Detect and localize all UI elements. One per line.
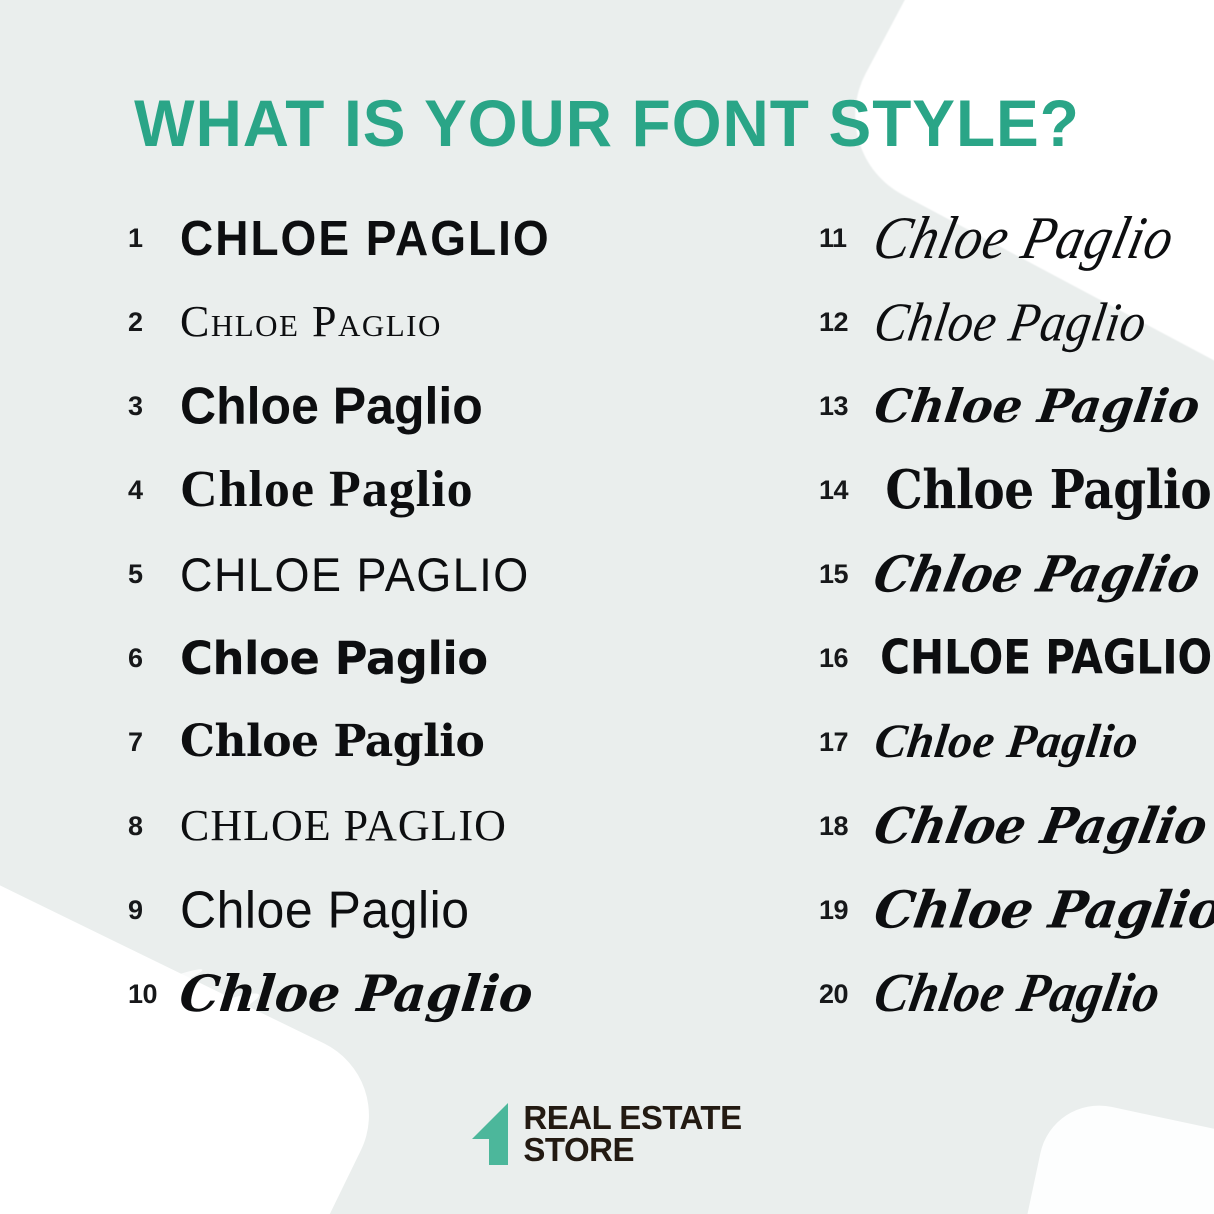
font-sample-text: CHLOE PAGLIO bbox=[180, 804, 507, 848]
font-sample-column-right: 11 Chloe Paglio 12 Chloe Paglio 13 Chloe… bbox=[735, 196, 1214, 1036]
font-sample-number: 14 bbox=[819, 475, 875, 506]
font-sample-text: Chloe Paglio bbox=[177, 969, 535, 1019]
font-sample-text: Chloe Paglio bbox=[870, 549, 1205, 599]
font-sample-text: Chloe Paglio bbox=[180, 464, 474, 516]
font-sample-row[interactable]: 17 Chloe Paglio bbox=[819, 700, 1214, 784]
font-sample-row[interactable]: 11 Chloe Paglio bbox=[819, 196, 1214, 280]
font-sample-row[interactable]: 2 Chloe Paglio bbox=[128, 280, 735, 364]
font-sample-text: CHLOE PAGLIO bbox=[180, 550, 530, 597]
font-sample-number: 12 bbox=[819, 307, 875, 338]
font-sample-row[interactable]: 18 Chloe Paglio bbox=[819, 784, 1214, 868]
font-sample-text: Chloe Paglio bbox=[871, 295, 1151, 350]
brand-logo-text: REAL ESTATE STORE bbox=[523, 1102, 741, 1166]
font-sample-number: 15 bbox=[819, 559, 875, 590]
font-sample-number: 13 bbox=[819, 391, 875, 422]
font-sample-text: Chloe Paglio bbox=[885, 464, 1211, 517]
font-sample-number: 17 bbox=[819, 727, 875, 758]
font-sample-list: 1 CHLOE PAGLIO 2 Chloe Paglio 3 Chloe Pa… bbox=[0, 196, 1214, 1036]
font-sample-number: 16 bbox=[819, 643, 875, 674]
font-sample-text: Chloe Paglio bbox=[868, 208, 1180, 268]
font-sample-row[interactable]: 6 Chloe Paglio bbox=[128, 616, 735, 700]
font-sample-text: Chloe Paglio bbox=[180, 300, 442, 344]
brand-logo-line-2: STORE bbox=[523, 1134, 741, 1166]
house-roof-icon bbox=[472, 1103, 510, 1165]
font-sample-row[interactable]: 4 Chloe Paglio bbox=[128, 448, 735, 532]
font-sample-row[interactable]: 9 Chloe Paglio bbox=[128, 868, 735, 952]
font-sample-row[interactable]: 1 CHLOE PAGLIO bbox=[128, 196, 735, 280]
font-sample-row[interactable]: 15 Chloe Paglio bbox=[819, 532, 1214, 616]
font-sample-row[interactable]: 12 Chloe Paglio bbox=[819, 280, 1214, 364]
font-sample-text: Chloe Paglio bbox=[872, 718, 1141, 766]
font-sample-text: Chloe Paglio bbox=[180, 884, 470, 936]
font-sample-row[interactable]: 5 CHLOE PAGLIO bbox=[128, 532, 735, 616]
font-sample-number: 6 bbox=[128, 643, 180, 674]
font-sample-row[interactable]: 19 Chloe Paglio bbox=[819, 868, 1214, 952]
brand-logo: REAL ESTATE STORE bbox=[0, 1102, 1214, 1166]
font-sample-number: 20 bbox=[819, 979, 875, 1010]
font-sample-text: Chloe Paglio bbox=[871, 885, 1214, 936]
font-sample-row[interactable]: 16 CHLOE PAGLIO bbox=[819, 616, 1214, 700]
font-sample-row[interactable]: 8 CHLOE PAGLIO bbox=[128, 784, 735, 868]
poster-canvas: WHAT IS YOUR FONT STYLE? 1 CHLOE PAGLIO … bbox=[0, 0, 1214, 1214]
font-sample-number: 18 bbox=[819, 811, 875, 842]
font-sample-text: Chloe Paglio bbox=[180, 380, 483, 432]
font-sample-text: Chloe Paglio bbox=[870, 966, 1165, 1021]
font-sample-number: 9 bbox=[128, 895, 180, 926]
brand-logo-line-1: REAL ESTATE bbox=[523, 1102, 741, 1134]
font-sample-column-left: 1 CHLOE PAGLIO 2 Chloe Paglio 3 Chloe Pa… bbox=[0, 196, 735, 1036]
font-sample-number: 5 bbox=[128, 559, 180, 590]
font-sample-row[interactable]: 13 Chloe Paglio bbox=[819, 364, 1214, 448]
font-sample-text: CHLOE PAGLIO bbox=[180, 214, 551, 263]
font-sample-row[interactable]: 14 Chloe Paglio bbox=[819, 448, 1214, 532]
font-sample-number: 8 bbox=[128, 811, 180, 842]
font-sample-number: 10 bbox=[128, 979, 180, 1010]
font-sample-row[interactable]: 7 Chloe Paglio bbox=[128, 700, 735, 784]
font-sample-number: 1 bbox=[128, 223, 180, 254]
brand-logo-lockup: REAL ESTATE STORE bbox=[472, 1102, 741, 1166]
font-sample-number: 11 bbox=[819, 223, 875, 254]
font-sample-number: 4 bbox=[128, 475, 180, 506]
font-sample-number: 19 bbox=[819, 895, 875, 926]
font-sample-row[interactable]: 3 Chloe Paglio bbox=[128, 364, 735, 448]
font-sample-text: Chloe Paglio bbox=[180, 720, 484, 764]
font-sample-row[interactable]: 10 Chloe Paglio bbox=[128, 952, 735, 1036]
font-sample-number: 7 bbox=[128, 727, 180, 758]
font-sample-row[interactable]: 20 Chloe Paglio bbox=[819, 952, 1214, 1036]
font-sample-text: Chloe Paglio bbox=[180, 636, 488, 681]
font-sample-number: 2 bbox=[128, 307, 180, 338]
font-sample-number: 3 bbox=[128, 391, 180, 422]
page-title: WHAT IS YOUR FONT STYLE? bbox=[18, 90, 1196, 156]
font-sample-text: Chloe Paglio bbox=[872, 383, 1203, 429]
font-sample-text: Chloe Paglio bbox=[870, 801, 1211, 850]
font-sample-text: CHLOE PAGLIO bbox=[880, 634, 1212, 681]
